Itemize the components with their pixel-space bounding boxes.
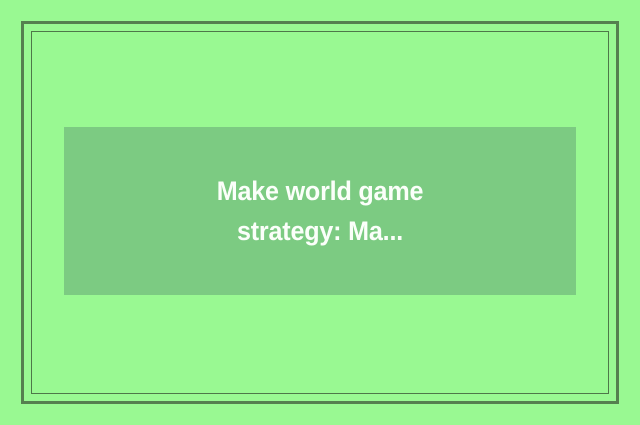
content-card[interactable]: Make world game strategy: Ma... xyxy=(64,127,576,295)
card-title: Make world game strategy: Ma... xyxy=(196,171,443,251)
thumbnail-canvas: Make world game strategy: Ma... xyxy=(0,0,640,425)
